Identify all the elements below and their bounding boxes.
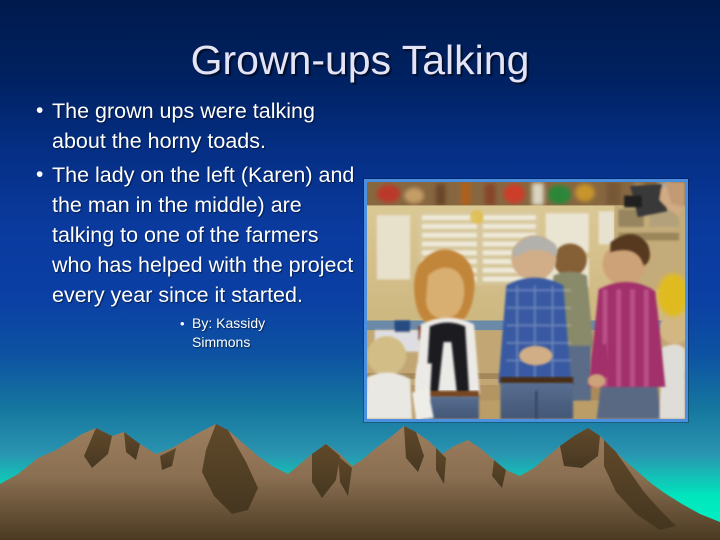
bullet-marker-icon: • (26, 96, 52, 126)
bullet-text-2: The lady on the left (Karen) and the man… (52, 160, 362, 310)
bullet-item-1: • The grown ups were talking about the h… (26, 96, 362, 156)
sub-bullet-marker-icon: • (176, 314, 192, 333)
slide-photo (364, 179, 688, 422)
mountain-silhouette-graphic (0, 410, 720, 540)
slide-title: Grown-ups Talking (0, 36, 720, 84)
bullet-marker-icon: • (26, 160, 52, 190)
presentation-slide: Grown-ups Talking • The grown ups were t… (0, 0, 720, 540)
bullet-text-1: The grown ups were talking about the hor… (52, 96, 362, 156)
slide-body-text: • The grown ups were talking about the h… (26, 96, 362, 352)
byline-item: • By: Kassidy Simmons (176, 314, 362, 352)
bullet-item-2: • The lady on the left (Karen) and the m… (26, 160, 362, 310)
byline-text: By: Kassidy Simmons (192, 314, 322, 352)
classroom-photo-image (367, 182, 685, 419)
